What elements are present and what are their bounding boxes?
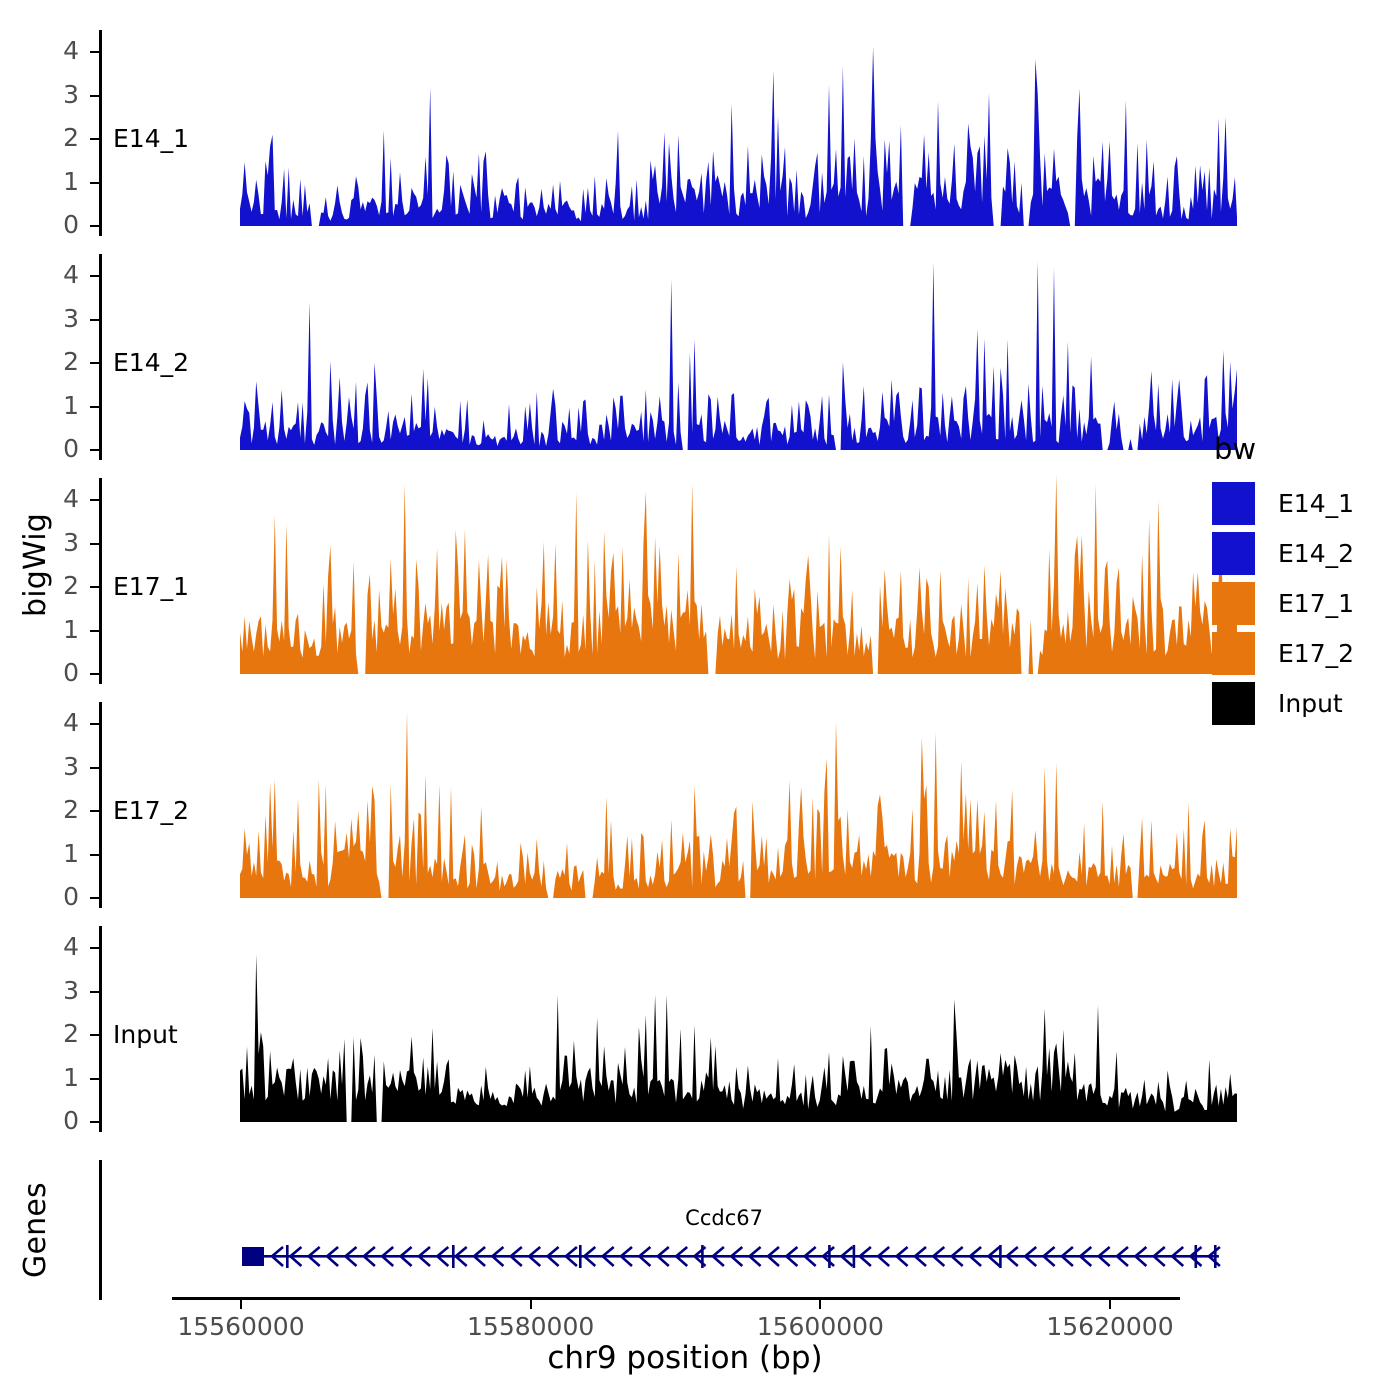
y-tick-label: 2 [29, 1021, 79, 1046]
y-tick [90, 51, 99, 53]
signal-area-e17_2 [240, 694, 1237, 898]
y-tick-label: 3 [29, 978, 79, 1003]
x-tick [819, 1300, 821, 1309]
track-panel-e17_2: 01234E17_2 [0, 694, 1200, 898]
signal-area-input [240, 918, 1237, 1122]
legend-color-key [1212, 632, 1255, 675]
gene-panel-axis-line [99, 1160, 102, 1300]
legend-entry-label: Input [1278, 689, 1343, 718]
y-tick [90, 182, 99, 184]
y-tick [90, 810, 99, 812]
legend-title: bw [1214, 432, 1354, 466]
legend-entry-e14_1[interactable]: E14_1 [1212, 480, 1354, 527]
legend-color-key [1212, 682, 1255, 725]
track-panel-input: 01234Input [0, 918, 1200, 1122]
legend-entry-input[interactable]: Input [1212, 680, 1354, 727]
track-label-input: Input [113, 1020, 178, 1049]
legend-entry-label: E14_2 [1278, 539, 1354, 568]
legend-entry-label: E14_1 [1278, 489, 1354, 518]
y-tick-label: 0 [29, 212, 79, 237]
legend-entries: E14_1E14_2E17_1E17_2Input [1212, 480, 1354, 727]
y-tick [90, 95, 99, 97]
y-axis-line [99, 254, 102, 460]
y-tick-label: 3 [29, 306, 79, 331]
gene-label: Ccdc67 [685, 1206, 763, 1230]
y-tick [90, 406, 99, 408]
track-label-e17_1: E17_1 [113, 572, 189, 601]
signal-area-e17_1 [240, 470, 1237, 674]
y-tick-label: 3 [29, 754, 79, 779]
y-tick [90, 854, 99, 856]
y-tick-label: 2 [29, 125, 79, 150]
x-tick-label: 15620000 [1020, 1312, 1200, 1341]
gene-panel: Ccdc67 [0, 1160, 1200, 1300]
y-tick-label: 1 [29, 1065, 79, 1090]
track-label-e17_2: E17_2 [113, 796, 189, 825]
track-panel-e17_1: 01234E17_1 [0, 470, 1200, 674]
y-tick-label: 1 [29, 841, 79, 866]
y-tick-label: 2 [29, 349, 79, 374]
legend-color-key [1212, 482, 1255, 525]
y-tick-label: 1 [29, 169, 79, 194]
legend-entry-e17_2[interactable]: E17_2 [1212, 630, 1354, 677]
y-tick-label: 4 [29, 486, 79, 511]
x-axis-title: chr9 position (bp) [240, 1340, 1130, 1376]
legend-color-key [1212, 582, 1255, 625]
y-tick-label: 0 [29, 884, 79, 909]
y-tick-label: 4 [29, 38, 79, 63]
x-tick-label: 15600000 [730, 1312, 910, 1341]
y-tick [90, 362, 99, 364]
x-tick [530, 1300, 532, 1309]
x-tick [1109, 1300, 1111, 1309]
legend-entry-label: E17_1 [1278, 589, 1354, 618]
y-tick-label: 2 [29, 573, 79, 598]
y-tick-label: 2 [29, 797, 79, 822]
y-tick-label: 4 [29, 710, 79, 735]
y-tick-label: 0 [29, 1108, 79, 1133]
y-tick-label: 0 [29, 436, 79, 461]
legend-entry-e14_2[interactable]: E14_2 [1212, 530, 1354, 577]
y-axis-line [99, 702, 102, 908]
y-tick [90, 225, 99, 227]
y-tick [90, 319, 99, 321]
legend-entry-label: E17_2 [1278, 639, 1354, 668]
y-tick [90, 991, 99, 993]
y-tick-label: 3 [29, 82, 79, 107]
y-tick [90, 449, 99, 451]
gene-model-ccdc67[interactable] [242, 1239, 1233, 1277]
y-tick [90, 723, 99, 725]
track-panel-e14_1: 01234E14_1 [0, 22, 1200, 226]
signal-area-e14_2 [240, 246, 1237, 450]
y-tick [90, 630, 99, 632]
y-tick-label: 1 [29, 617, 79, 642]
x-tick-label: 15580000 [441, 1312, 621, 1341]
y-tick-label: 1 [29, 393, 79, 418]
signal-area-e14_1 [240, 22, 1237, 226]
y-tick [90, 138, 99, 140]
track-panel-e14_2: 01234E14_2 [0, 246, 1200, 450]
y-tick [90, 543, 99, 545]
y-tick [90, 275, 99, 277]
legend: bw E14_1E14_2E17_1E17_2Input [1212, 432, 1354, 730]
legend-entry-e17_1[interactable]: E17_1 [1212, 580, 1354, 627]
y-axis-line [99, 30, 102, 236]
y-tick [90, 673, 99, 675]
y-tick [90, 1034, 99, 1036]
y-tick [90, 499, 99, 501]
y-tick [90, 1121, 99, 1123]
y-tick-label: 4 [29, 934, 79, 959]
y-tick [90, 1078, 99, 1080]
legend-color-key [1212, 532, 1255, 575]
y-tick-label: 4 [29, 262, 79, 287]
y-axis-line [99, 478, 102, 684]
x-tick-label: 15560000 [151, 1312, 331, 1341]
track-label-e14_1: E14_1 [113, 124, 189, 153]
y-tick-label: 3 [29, 530, 79, 555]
x-tick [240, 1300, 242, 1309]
y-tick [90, 767, 99, 769]
y-tick [90, 947, 99, 949]
y-axis-line [99, 926, 102, 1132]
y-tick-label: 0 [29, 660, 79, 685]
y-tick [90, 897, 99, 899]
genome-browser-figure: bigWig Genes 01234E14_101234E14_201234E1… [0, 0, 1400, 1400]
y-tick [90, 586, 99, 588]
track-label-e14_2: E14_2 [113, 348, 189, 377]
